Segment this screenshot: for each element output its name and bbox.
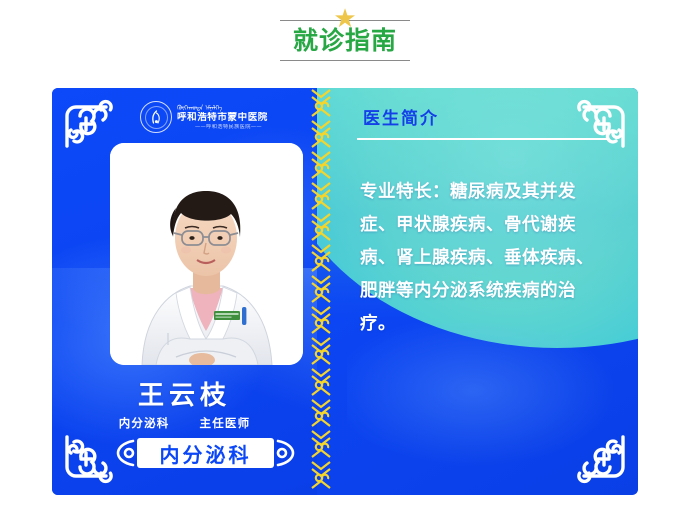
doctor-roles: 内分泌科 主任医师 <box>52 415 317 431</box>
intro-heading-rule <box>357 138 607 140</box>
specialty-label: 专业特长： <box>360 182 450 202</box>
logo-hospital-name: 呼和浩特市蒙中医院 <box>177 112 280 124</box>
hospital-logo: ᠬᠦᠬᠡᠬᠣᠲᠠ ᠡᠮᠨᠡᠯᠭᠡ 呼和浩特市蒙中医院 ——呼和浩特民族医院—— <box>140 96 280 138</box>
doctor-photo <box>110 143 303 365</box>
department-plaque-label: 内分泌科 <box>137 438 274 468</box>
doctor-rank: 主任医师 <box>200 415 251 431</box>
cloud-scroll-icon <box>274 438 298 468</box>
cloud-scroll-icon <box>113 438 137 468</box>
mongolian-scroll-corner-icon <box>568 431 630 489</box>
specialty-body: 糖尿病及其并发症、甲状腺疾病、骨代谢疾病、肾上腺疾病、垂体疾病、肥胖等内分泌系统… <box>360 182 594 334</box>
page-title-block: ★ 就诊指南 <box>280 4 410 64</box>
title-rule-bottom <box>280 60 410 61</box>
logo-hospital-subtitle: ——呼和浩特民族医院—— <box>177 124 280 131</box>
mongolian-band-pattern-icon <box>310 88 332 495</box>
intro-heading: 医生简介 <box>363 108 439 130</box>
mongolian-scroll-corner-icon <box>568 94 630 152</box>
page-title: 就诊指南 <box>280 24 410 58</box>
department-plaque: 内分泌科 <box>113 436 298 470</box>
intro-text-block: 专业特长：糖尿病及其并发症、甲状腺疾病、骨代谢疾病、肾上腺疾病、垂体疾病、肥胖等… <box>360 176 610 341</box>
doctor-department: 内分泌科 <box>119 415 170 431</box>
hospital-emblem-icon <box>140 101 172 133</box>
doctor-name: 王云枝 <box>52 381 317 411</box>
mongolian-scroll-corner-icon <box>60 94 122 152</box>
logo-mongolian-text: ᠬᠦᠬᠡᠬᠣᠲᠠ ᠡᠮᠨᠡᠯᠭᠡ <box>177 104 280 112</box>
